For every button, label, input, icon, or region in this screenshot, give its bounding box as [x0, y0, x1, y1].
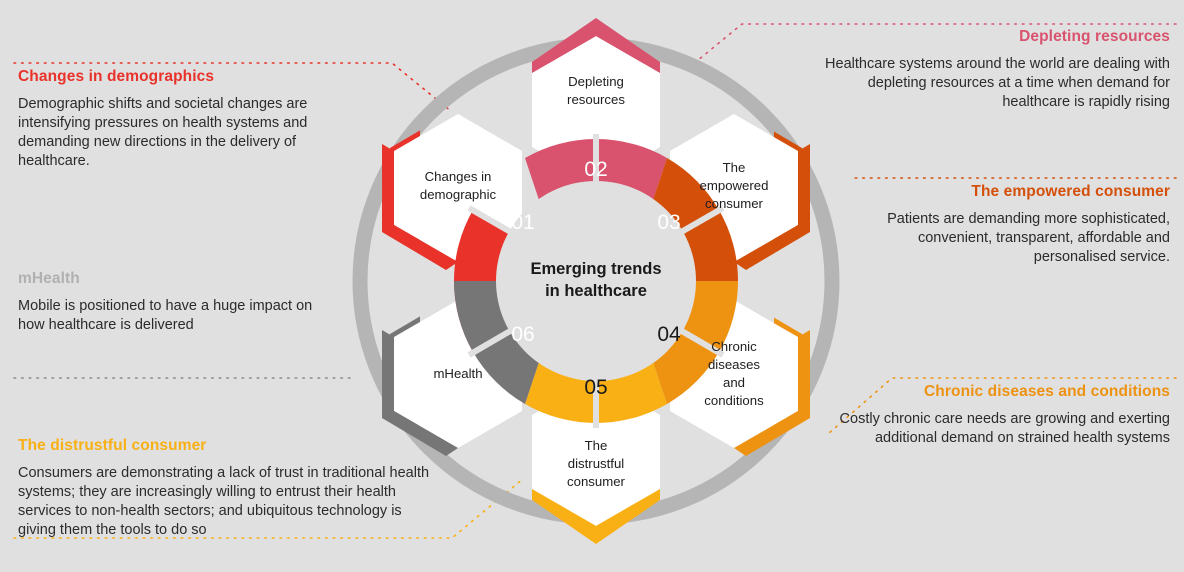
callout-heading-mhealth: mHealth — [18, 270, 338, 288]
callout-changes-in-demographics: Changes in demographics Demographic shif… — [18, 68, 348, 171]
callout-heading-empowered: The empowered consumer — [840, 183, 1170, 201]
hex-label-03-line2: empowered — [700, 178, 769, 193]
callout-distrustful-consumer: The distrustful consumer Consumers are d… — [18, 437, 438, 540]
hex-label-04-line1: Chronic — [711, 339, 757, 354]
hex-label-03-line3: consumer — [705, 196, 764, 211]
callout-heading-demographics: Changes in demographics — [18, 68, 348, 86]
center-title-line1: Emerging trends — [530, 260, 661, 278]
infographic-canvas: 01 02 03 04 05 06 Depleting resources Th… — [0, 0, 1184, 565]
hex-label-05-line3: consumer — [567, 474, 626, 489]
hex-label-01-line2: demographic — [420, 187, 497, 202]
hex-label-04-line3: and — [723, 375, 745, 390]
callout-body-empowered: Patients are demanding more sophisticate… — [840, 210, 1170, 267]
hex-label-06-line1: mHealth — [433, 366, 482, 381]
callout-body-mhealth: Mobile is positioned to have a huge impa… — [18, 297, 338, 335]
callout-empowered-consumer: The empowered consumer Patients are dema… — [840, 183, 1170, 267]
callout-chronic-diseases: Chronic diseases and conditions Costly c… — [825, 383, 1170, 448]
number-01: 01 — [511, 211, 534, 234]
hex-label-01-line1: Changes in — [425, 169, 492, 184]
callout-heading-depleting: Depleting resources — [800, 28, 1170, 46]
callout-body-depleting: Healthcare systems around the world are … — [800, 55, 1170, 112]
hex-label-03-line1: The — [723, 160, 746, 175]
number-06: 06 — [511, 323, 534, 346]
number-05: 05 — [584, 376, 607, 399]
hex-label-04-line2: diseases — [708, 357, 760, 372]
center-title-line2: in healthcare — [545, 282, 647, 300]
callout-body-chronic: Costly chronic care needs are growing an… — [825, 410, 1170, 448]
number-02: 02 — [584, 158, 607, 181]
hex-label-05-line2: distrustful — [568, 456, 625, 471]
hex-label-05-line1: The — [585, 438, 608, 453]
callout-heading-distrustful: The distrustful consumer — [18, 437, 438, 455]
hex-label-04-line4: conditions — [704, 393, 764, 408]
number-03: 03 — [657, 211, 680, 234]
hex-label-02-line2: resources — [567, 92, 625, 107]
callout-body-distrustful: Consumers are demonstrating a lack of tr… — [18, 464, 438, 541]
callout-body-demographics: Demographic shifts and societal changes … — [18, 95, 348, 172]
callout-depleting-resources: Depleting resources Healthcare systems a… — [800, 28, 1170, 112]
number-04: 04 — [657, 323, 681, 346]
hex-label-02-line1: Depleting — [568, 74, 624, 89]
callout-mhealth: mHealth Mobile is positioned to have a h… — [18, 270, 338, 335]
callout-heading-chronic: Chronic diseases and conditions — [825, 383, 1170, 401]
